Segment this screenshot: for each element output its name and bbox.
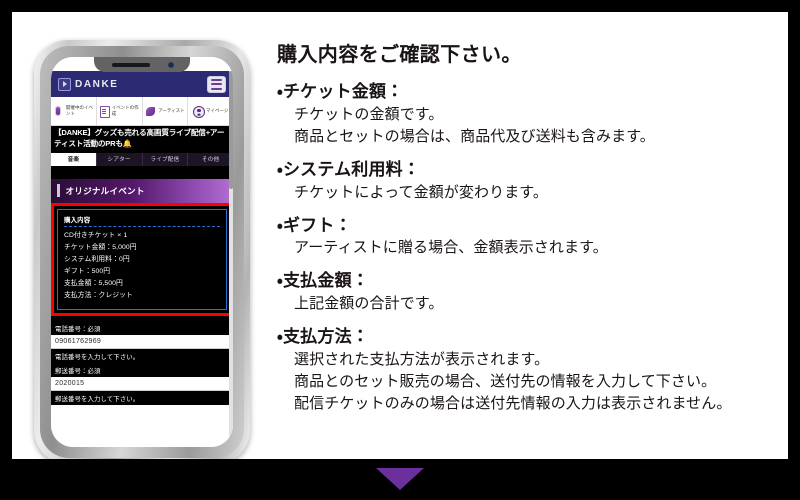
explanation-heading: ・ギフト：: [277, 215, 797, 238]
purchase-line-item: CD付きチケット × 1: [64, 230, 220, 242]
app-scroll-area[interactable]: DANKE: [51, 71, 233, 447]
nav-item-label: イベントの作成: [112, 105, 140, 116]
purchase-line-ticket-amount: チケット金額：5,000円: [64, 242, 220, 254]
scrollbar-thumb[interactable]: [229, 71, 233, 189]
nav-item-label: アーティスト: [158, 108, 184, 114]
explanation-heading: ・支払方法：: [277, 326, 797, 349]
nav-item-ongoing-events[interactable]: 開催中のイベント: [51, 97, 97, 125]
explanation-title: 購入内容をご確認下さい。: [277, 38, 797, 67]
postal-code-input[interactable]: 2020015: [51, 377, 233, 391]
explanation-block-gift: ・ギフト： アーティストに贈る場合、金額表示されます。: [277, 215, 797, 260]
explanation-block-system-fee: ・システム利用料： チケットによって金額が変わります。: [277, 159, 797, 204]
phone-number-input[interactable]: 09061762969: [51, 335, 233, 349]
nav-item-artist[interactable]: アーティスト: [143, 97, 189, 125]
phone-body: DANKE: [34, 40, 250, 464]
phone-notch: [94, 57, 190, 72]
guitar-icon: [145, 106, 156, 117]
phone-number-label: 電話番号：必須: [51, 321, 233, 335]
purchase-summary-highlight: 購入内容 CD付きチケット × 1 チケット金額：5,000円 システム利用料：…: [51, 203, 233, 317]
purchase-line-payment-total: 支払金額：5,500円: [64, 278, 220, 290]
person-icon: [193, 106, 204, 117]
app-nav-bar: 開催中のイベント イベントの作成: [51, 97, 233, 126]
explanation-body-line: アーティストに贈る場合、金額表示されます。: [277, 237, 797, 259]
document-icon: [99, 106, 110, 117]
phone-screen: DANKE: [51, 57, 233, 447]
tab-theater[interactable]: シアター: [97, 153, 143, 166]
tab-spacer: [51, 166, 233, 179]
explanation-body-line: 選択された支払方法が表示されます。: [277, 349, 797, 371]
danke-logo[interactable]: DANKE: [58, 78, 119, 91]
down-triangle-icon: [376, 468, 424, 490]
explanation-block-payment-method: ・支払方法： 選択された支払方法が表示されます。 商品とのセット販売の場合、送付…: [277, 326, 797, 415]
content-sheet: DANKE: [12, 12, 788, 459]
footer-band: [0, 459, 800, 500]
nav-item-mypage[interactable]: マイページ: [188, 97, 233, 125]
category-tabs: 音楽 シアター ライブ配信 その他: [51, 153, 233, 166]
postal-code-label: 郵送番号：必須: [51, 363, 233, 377]
explanation-block-payment-total: ・支払金額： 上記金額の合計です。: [277, 270, 797, 315]
hamburger-menu-icon[interactable]: [207, 76, 226, 93]
nav-item-create-event[interactable]: イベントの作成: [97, 97, 143, 125]
screenshot-root: DANKE: [0, 0, 800, 500]
danke-play-mark-icon: [58, 78, 71, 91]
explanation-body-line: 商品とのセット販売の場合、送付先の情報を入力して下さい。: [277, 371, 797, 393]
explanation-body-line: 商品とセットの場合は、商品代及び送料も含みます。: [277, 126, 797, 148]
danke-app: DANKE: [51, 57, 233, 447]
nav-item-label: 開催中のイベント: [66, 105, 94, 116]
original-event-banner: オリジナルイベント: [51, 179, 233, 203]
purchase-summary-box: 購入内容 CD付きチケット × 1 チケット金額：5,000円 システム利用料：…: [57, 209, 227, 311]
app-header: DANKE: [51, 71, 233, 97]
front-camera: [168, 62, 174, 68]
explanation-heading: ・チケット金額：: [277, 81, 797, 104]
nav-item-label: マイページ: [206, 108, 228, 114]
explanation-body-line: チケットの金額です。: [277, 104, 797, 126]
phone-bezel: DANKE: [40, 46, 244, 458]
purchase-summary-divider: [64, 226, 220, 227]
tab-other[interactable]: その他: [188, 153, 233, 166]
purchase-line-system-fee: システム利用料：0円: [64, 254, 220, 266]
tab-live-streaming[interactable]: ライブ配信: [143, 153, 189, 166]
purchase-line-payment-method: 支払方法：クレジット: [64, 290, 220, 302]
earpiece-speaker: [112, 63, 150, 67]
explanation-heading: ・システム利用料：: [277, 159, 797, 182]
phone-number-hint: 電話番号を入力して下さい。: [51, 349, 233, 363]
microphone-icon: [53, 106, 64, 117]
hamburger-line: [211, 79, 222, 81]
banner-title: オリジナルイベント: [66, 185, 145, 197]
purchase-summary-heading: 購入内容: [64, 215, 220, 224]
purchase-line-gift: ギフト：500円: [64, 266, 220, 278]
explanation-heading: ・支払金額：: [277, 270, 797, 293]
scrollbar-down-arrow[interactable]: [229, 442, 233, 447]
app-scrollbar[interactable]: [229, 71, 233, 447]
hamburger-line: [211, 88, 222, 90]
tab-music[interactable]: 音楽: [51, 153, 97, 166]
postal-code-hint: 郵送番号を入力して下さい。: [51, 391, 233, 405]
danke-logo-text: DANKE: [75, 79, 119, 90]
banner-accent-bar: [57, 184, 60, 197]
explanation-block-ticket-amount: ・チケット金額： チケットの金額です。 商品とセットの場合は、商品代及び送料も含…: [277, 81, 797, 148]
explanation-body-line: 配信チケットのみの場合は送付先情報の入力は表示されません。: [277, 393, 797, 415]
event-title: 【DANKE】グッズも売れる高画質ライブ配信+アーティスト活動のPRも🔔: [51, 126, 233, 153]
hamburger-line: [211, 83, 222, 85]
phone-mockup: DANKE: [34, 40, 250, 464]
explanation-body-line: 上記金額の合計です。: [277, 293, 797, 315]
explanation-panel: 購入内容をご確認下さい。 ・チケット金額： チケットの金額です。 商品とセットの…: [277, 38, 797, 426]
explanation-body-line: チケットによって金額が変わります。: [277, 182, 797, 204]
